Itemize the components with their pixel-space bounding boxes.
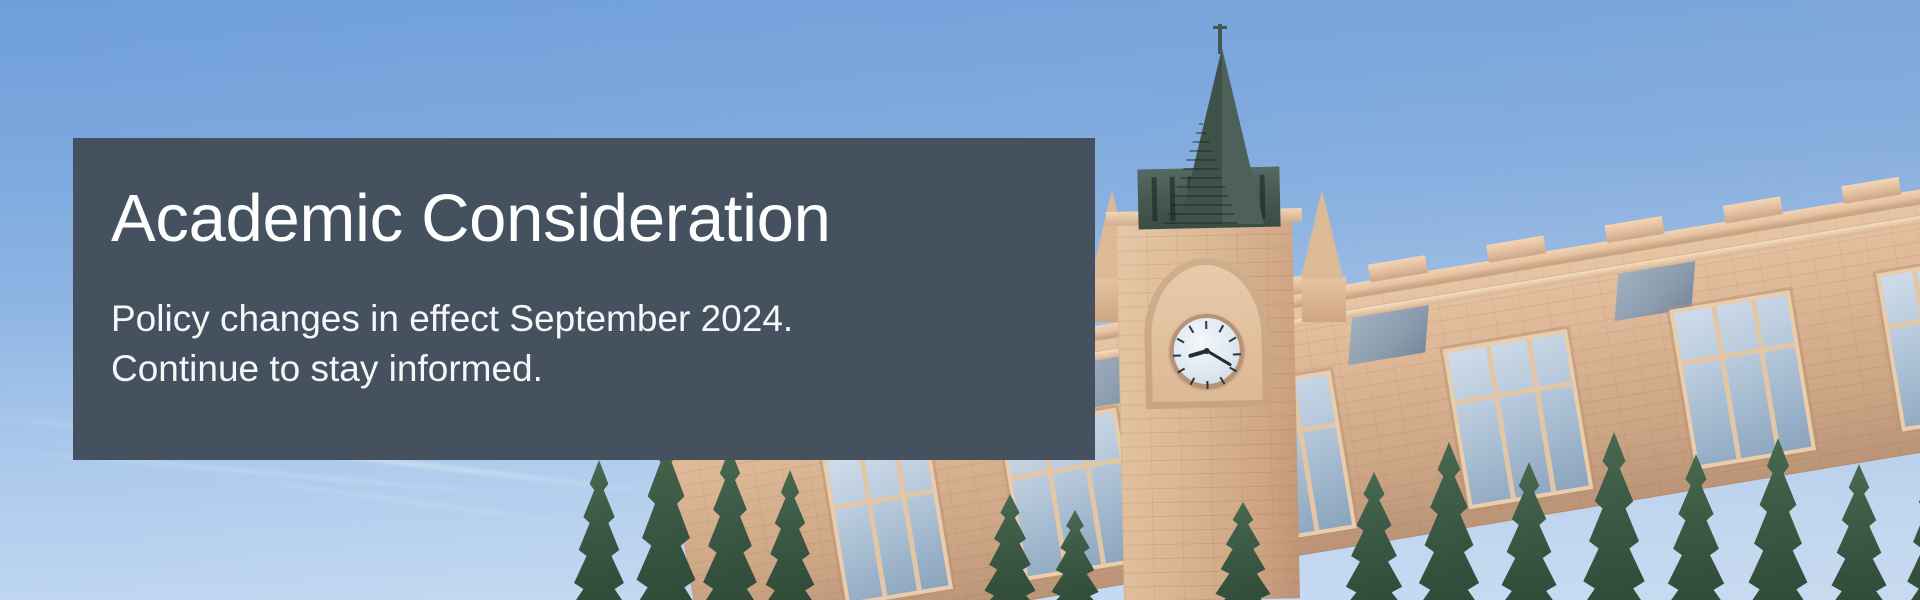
mullioned-window <box>822 441 953 600</box>
mullioned-window <box>1669 290 1816 470</box>
hero-text-overlay: Academic Consideration Policy changes in… <box>73 138 1095 460</box>
hero-subtitle-line-2: Continue to stay informed. <box>111 344 1095 393</box>
evergreen-tree <box>1816 464 1902 600</box>
hero-subtitle: Policy changes in effect September 2024.… <box>111 294 1095 392</box>
page-title: Academic Consideration <box>111 184 1095 254</box>
spire-finial <box>1218 24 1222 54</box>
clock-face <box>1169 313 1245 389</box>
clock-tower <box>1116 216 1300 600</box>
hero-subtitle-line-1: Policy changes in effect September 2024. <box>111 294 1095 343</box>
hero-banner: Academic Consideration Policy changes in… <box>0 0 1920 600</box>
mullioned-window <box>1443 329 1594 509</box>
clock-minute-hand <box>1206 350 1232 367</box>
pinnacle <box>1301 190 1343 278</box>
gothic-arch <box>1143 257 1270 410</box>
evergreen-tree <box>1890 434 1920 600</box>
pinnacle-base <box>1302 276 1346 322</box>
mullioned-window <box>1876 257 1920 431</box>
